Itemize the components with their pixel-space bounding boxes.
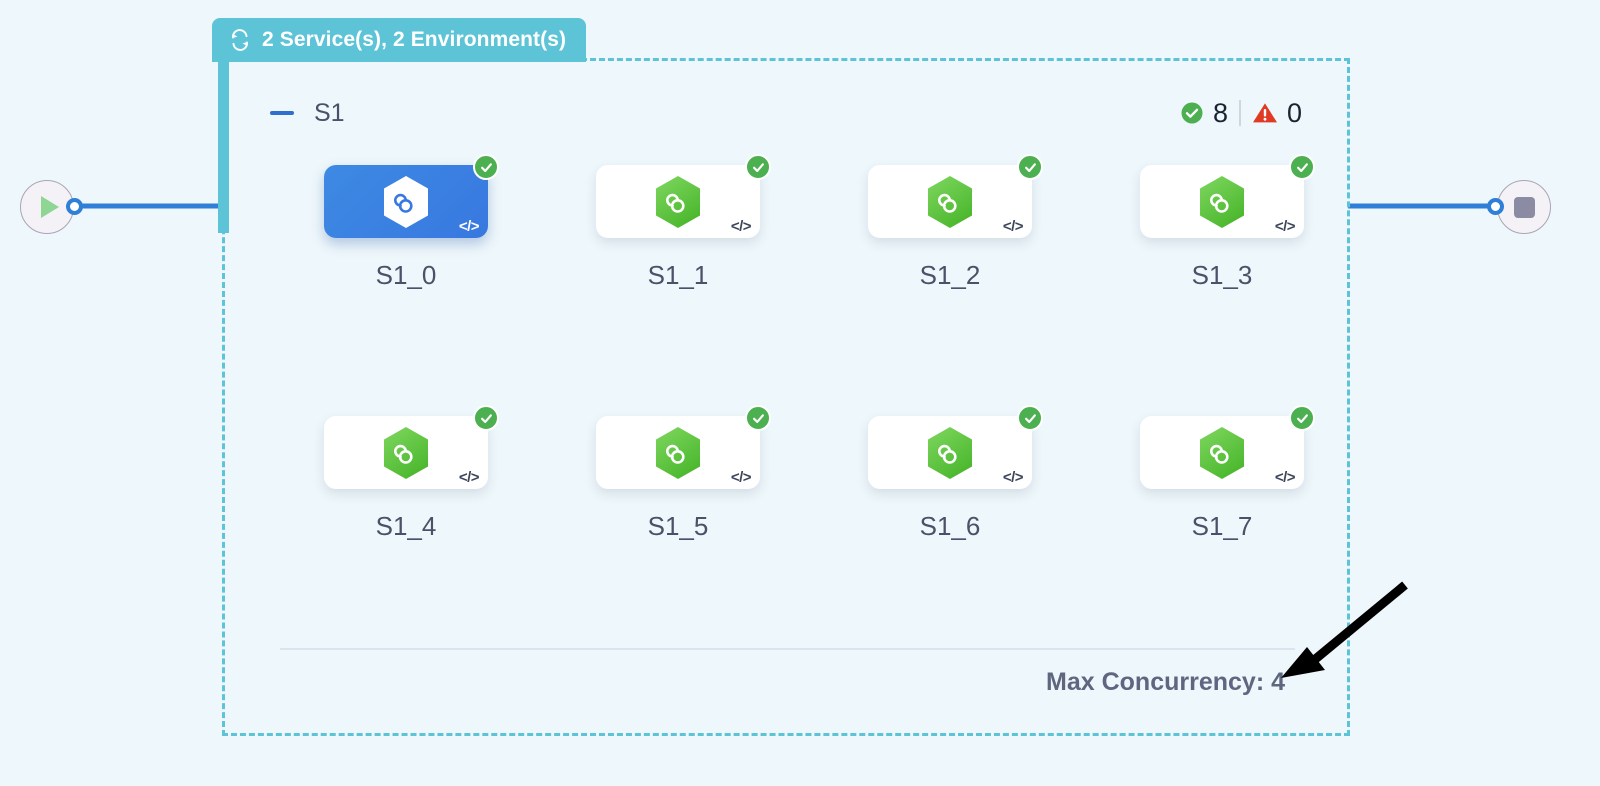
start-node-output-port[interactable] — [66, 198, 83, 215]
workflow-canvas: 2 Service(s), 2 Environment(s) S1 8 0 — [0, 0, 1600, 786]
node-cell: </> S1_1 — [542, 165, 814, 416]
node-label: S1_1 — [648, 260, 709, 291]
node-label: S1_4 — [376, 511, 437, 542]
code-icon[interactable]: </> — [459, 469, 479, 486]
code-icon[interactable]: </> — [1275, 469, 1295, 486]
hexagon-loop-icon — [925, 175, 975, 229]
status-badge-success — [473, 405, 499, 431]
status-badge-success — [1289, 405, 1315, 431]
error-count-value: 0 — [1287, 98, 1302, 129]
code-icon[interactable]: </> — [1003, 218, 1023, 235]
node-card-s1-4[interactable]: </> — [324, 416, 488, 489]
node-cell: </> S1_4 — [270, 416, 542, 667]
node-cell: </> S1_2 — [814, 165, 1086, 416]
node-cell: </> S1_0 — [270, 165, 542, 416]
warning-triangle-icon — [1252, 101, 1278, 125]
status-badge-success — [745, 154, 771, 180]
hexagon-loop-icon — [1197, 175, 1247, 229]
status-counts: 8 0 — [1180, 98, 1302, 129]
footer-divider — [280, 648, 1295, 650]
hexagon-loop-icon — [925, 426, 975, 480]
hexagon-loop-icon — [653, 175, 703, 229]
end-node-input-port[interactable] — [1487, 198, 1504, 215]
status-badge-success — [1017, 154, 1043, 180]
group-header-label: 2 Service(s), 2 Environment(s) — [262, 28, 566, 52]
group-left-accent-bar — [218, 58, 229, 233]
check-icon — [1023, 411, 1038, 426]
status-badge-success — [473, 154, 499, 180]
node-card-s1-6[interactable]: </> — [868, 416, 1032, 489]
hexagon-loop-icon — [653, 426, 703, 480]
hexagon-loop-icon — [381, 175, 431, 229]
service-name-label: S1 — [314, 99, 345, 128]
node-card-s1-2[interactable]: </> — [868, 165, 1032, 238]
play-icon — [41, 196, 59, 218]
node-card-s1-3[interactable]: </> — [1140, 165, 1304, 238]
minus-icon[interactable] — [270, 111, 294, 115]
count-divider — [1239, 100, 1241, 126]
node-card-s1-5[interactable]: </> — [596, 416, 760, 489]
success-count-value: 8 — [1213, 98, 1228, 129]
error-count-group: 0 — [1252, 98, 1302, 129]
node-card-s1-7[interactable]: </> — [1140, 416, 1304, 489]
code-icon[interactable]: </> — [731, 218, 751, 235]
check-icon — [479, 411, 494, 426]
status-badge-success — [745, 405, 771, 431]
status-badge-success — [1289, 154, 1315, 180]
node-grid: </> S1_0 </> S1_1 — [270, 165, 1310, 667]
hexagon-loop-icon — [381, 426, 431, 480]
node-label: S1_7 — [1192, 511, 1253, 542]
check-icon — [479, 160, 494, 175]
check-icon — [1295, 160, 1310, 175]
status-badge-success — [1017, 405, 1043, 431]
check-icon — [1023, 160, 1038, 175]
node-cell: </> S1_3 — [1086, 165, 1358, 416]
node-label: S1_5 — [648, 511, 709, 542]
max-concurrency-label: Max Concurrency: 4 — [280, 668, 1285, 697]
code-icon[interactable]: </> — [1275, 218, 1295, 235]
node-label: S1_3 — [1192, 260, 1253, 291]
node-label: S1_0 — [376, 260, 437, 291]
code-icon[interactable]: </> — [731, 469, 751, 486]
code-icon[interactable]: </> — [1003, 469, 1023, 486]
hexagon-loop-icon — [1197, 426, 1247, 480]
node-cell: </> S1_6 — [814, 416, 1086, 667]
check-icon — [1295, 411, 1310, 426]
check-icon — [751, 411, 766, 426]
check-icon — [751, 160, 766, 175]
node-card-s1-1[interactable]: </> — [596, 165, 760, 238]
node-cell: </> S1_5 — [542, 416, 814, 667]
node-label: S1_6 — [920, 511, 981, 542]
node-cell: </> S1_7 — [1086, 416, 1358, 667]
stop-icon — [1514, 197, 1535, 218]
check-circle-icon — [1180, 101, 1204, 125]
node-label: S1_2 — [920, 260, 981, 291]
group-header-tab[interactable]: 2 Service(s), 2 Environment(s) — [212, 18, 586, 62]
end-node[interactable] — [1497, 180, 1551, 234]
loop-icon — [228, 28, 252, 52]
node-card-s1-0[interactable]: </> — [324, 165, 488, 238]
success-count-group: 8 — [1180, 98, 1228, 129]
code-icon[interactable]: </> — [459, 218, 479, 235]
service-header-row: S1 8 0 — [270, 95, 1302, 131]
